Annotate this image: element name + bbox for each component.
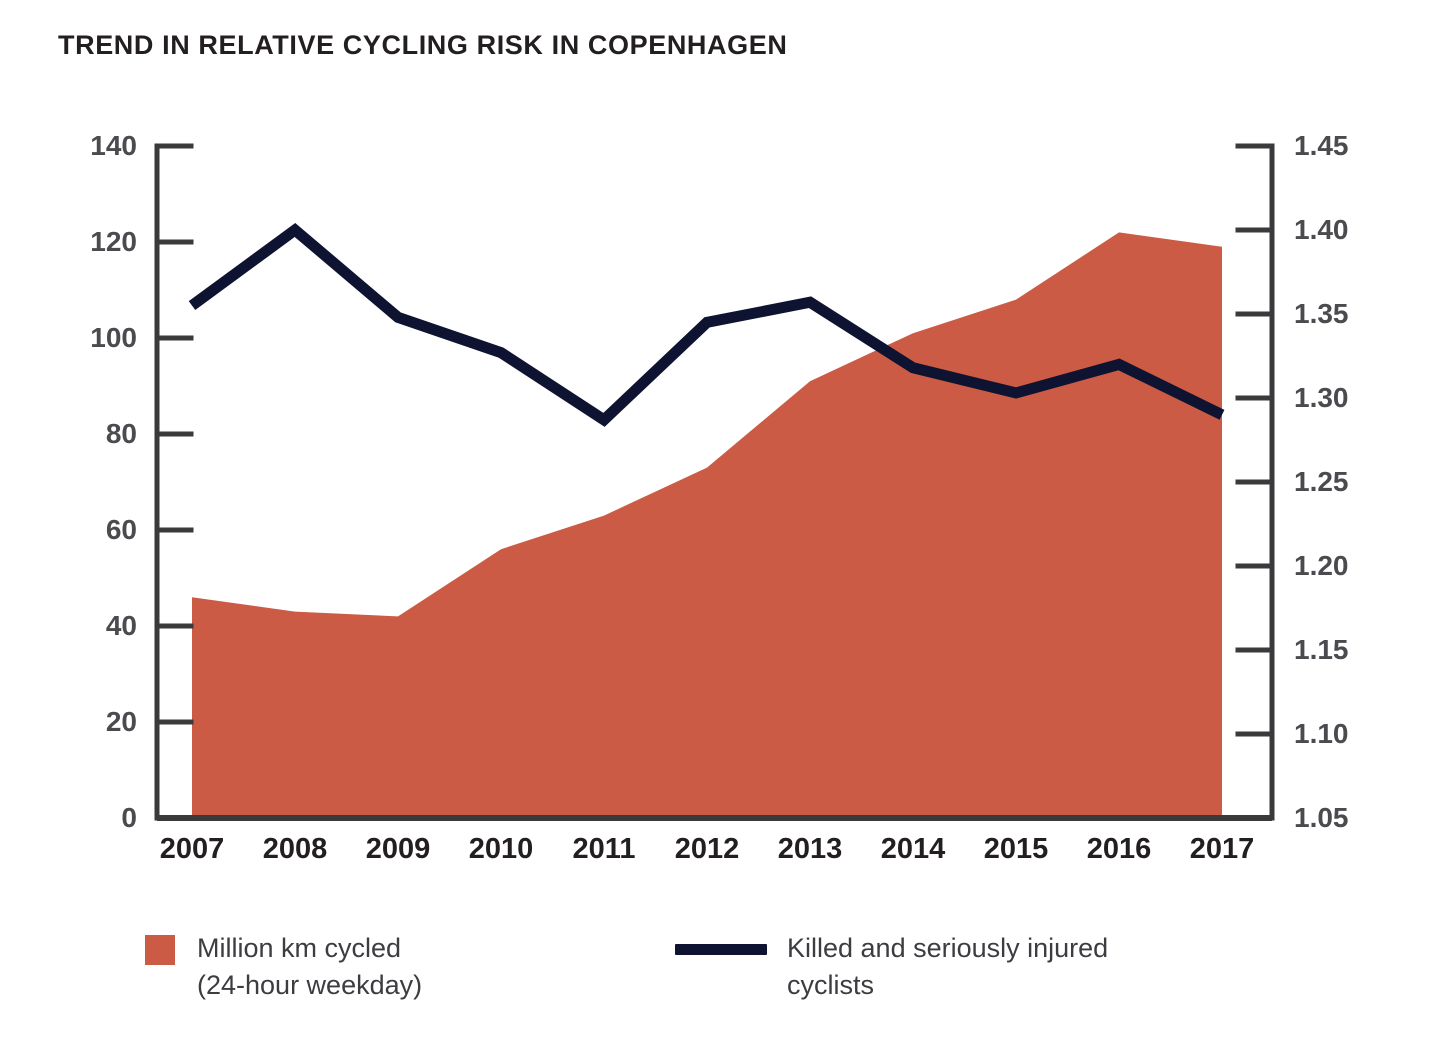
right-axis-tick-label: 1.25 xyxy=(1294,466,1349,498)
legend-item-million-km-cycled[interactable]: Million km cycled (24-hour weekday) xyxy=(145,930,422,1005)
chart-plot-area xyxy=(0,0,1440,1061)
x-axis-tick-label: 2008 xyxy=(263,833,328,866)
legend-color-swatch-icon xyxy=(145,935,175,965)
left-axis-tick-label: 20 xyxy=(106,706,137,738)
x-axis-tick-label: 2015 xyxy=(984,833,1049,866)
left-axis-tick-label: 0 xyxy=(121,802,137,834)
left-axis-tick-label: 60 xyxy=(106,514,137,546)
legend-item-ksi-cyclists[interactable]: Killed and seriously injured cyclists xyxy=(675,930,1108,1005)
chart-legend: Million km cycled (24-hour weekday) Kill… xyxy=(140,925,1340,1035)
x-axis-tick-label: 2007 xyxy=(160,833,225,866)
left-axis-tick-label: 40 xyxy=(106,610,137,642)
x-axis-tick-label: 2017 xyxy=(1190,833,1255,866)
x-axis-tick-label: 2013 xyxy=(778,833,843,866)
legend-item-label: Million km cycled (24-hour weekday) xyxy=(197,930,422,1005)
right-axis-tick-label: 1.10 xyxy=(1294,718,1349,750)
right-axis-tick-label: 1.30 xyxy=(1294,382,1349,414)
left-axis xyxy=(157,146,191,818)
right-axis-tick-label: 1.05 xyxy=(1294,802,1349,834)
x-axis-tick-label: 2011 xyxy=(573,833,636,866)
left-axis-tick-label: 140 xyxy=(90,130,137,162)
right-axis-tick-label: 1.35 xyxy=(1294,298,1349,330)
chart-container: TREND IN RELATIVE CYCLING RISK IN COPENH… xyxy=(0,0,1440,1061)
x-axis-tick-label: 2012 xyxy=(675,833,740,866)
left-axis-tick-label: 100 xyxy=(90,322,137,354)
left-axis-tick-label: 120 xyxy=(90,226,137,258)
left-axis-tick-label: 80 xyxy=(106,418,137,450)
x-axis-tick-label: 2010 xyxy=(469,833,534,866)
right-axis xyxy=(1238,146,1272,818)
right-axis-tick-label: 1.40 xyxy=(1294,214,1349,246)
right-axis-tick-label: 1.45 xyxy=(1294,130,1349,162)
legend-line-dash-icon xyxy=(675,944,767,955)
right-axis-tick-label: 1.15 xyxy=(1294,634,1349,666)
x-axis-tick-label: 2014 xyxy=(881,833,946,866)
x-axis-tick-label: 2016 xyxy=(1087,833,1152,866)
legend-item-label: Killed and seriously injured cyclists xyxy=(787,930,1108,1005)
right-axis-tick-label: 1.20 xyxy=(1294,550,1349,582)
x-axis-tick-label: 2009 xyxy=(366,833,431,866)
